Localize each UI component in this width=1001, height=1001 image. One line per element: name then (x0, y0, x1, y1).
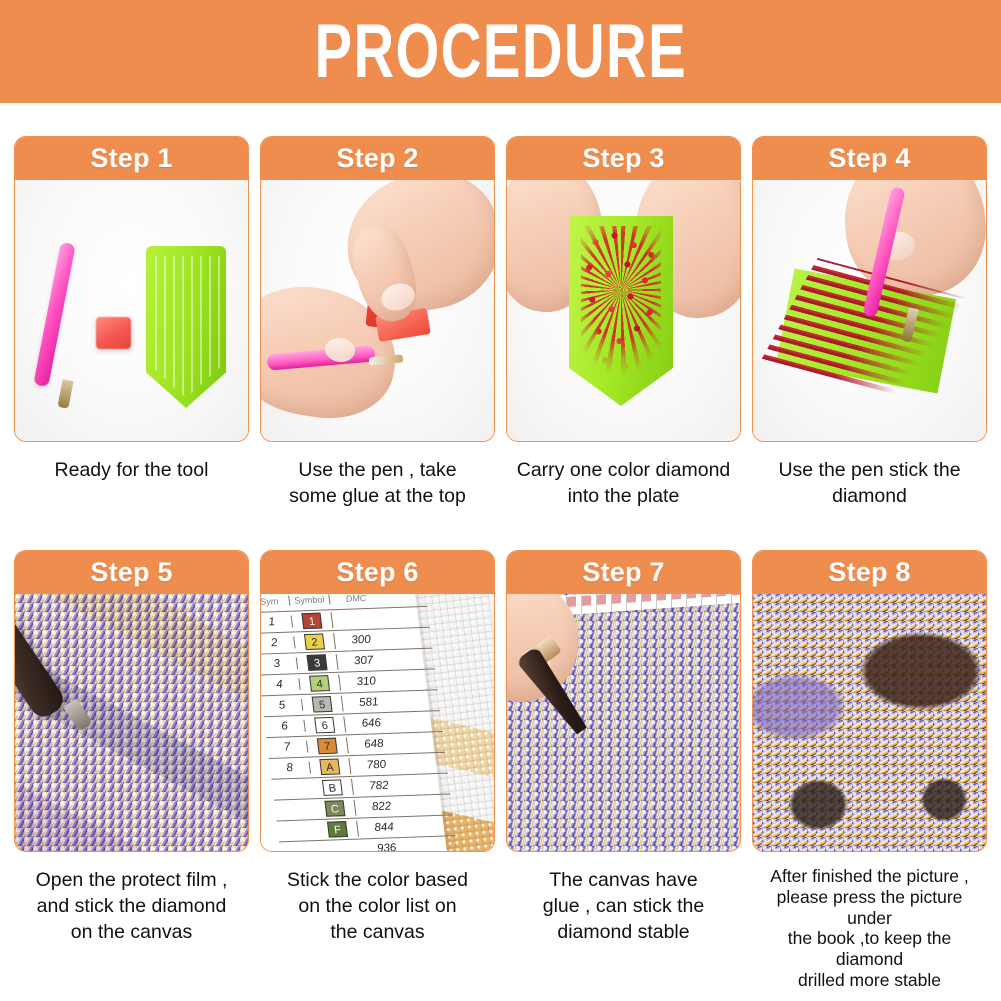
step-4-card: Step 4 (752, 136, 987, 442)
step-card-5: Step 5 Open the protect film , and stick… (14, 550, 249, 990)
caption-line: After finished the picture , (754, 866, 985, 887)
symbol-swatch: 3 (307, 655, 328, 672)
red-diamonds-icon (581, 226, 661, 386)
step-3-caption: Carry one color diamond into the plate (506, 458, 741, 509)
step-8-caption: After finished the picture , please pres… (752, 866, 987, 990)
symbol-swatch: B (322, 780, 343, 797)
row-dmc: 822 (355, 800, 409, 814)
step-1-image (15, 180, 248, 441)
row-dmc: 310 (339, 675, 393, 689)
step-7-caption: The canvas have glue , can stick the dia… (506, 868, 741, 945)
step-7-header: Step 7 (507, 551, 740, 594)
step-7-image (507, 594, 740, 851)
caption-line: the canvas (262, 920, 493, 946)
step-4-image (753, 180, 986, 441)
row-symbol: 3 (296, 654, 338, 671)
step-1-card: Step 1 (14, 136, 249, 442)
row-index: 7 (267, 741, 309, 754)
row-symbol: B (312, 779, 354, 796)
step-card-6: Step 6 Sym Symbol DMC (260, 550, 495, 990)
step-6-header: Step 6 (261, 551, 494, 594)
symbol-swatch: 6 (314, 717, 335, 734)
caption-line: the book ,to keep the diamond (754, 928, 985, 969)
mosaic-color-bands (15, 594, 248, 851)
step-8-card: Step 8 (752, 550, 987, 852)
caption-line: and stick the diamond (16, 894, 247, 920)
caption-line: drilled more stable (754, 970, 985, 991)
picture-detail-overlay (753, 594, 986, 851)
step-4-caption: Use the pen stick the diamond (752, 458, 987, 509)
steps-grid: Step 1 Ready for the tool (0, 103, 1001, 990)
row-index: 8 (269, 762, 311, 775)
caption-line: some glue at the top (262, 484, 493, 510)
row-dmc: 646 (345, 717, 399, 731)
step-5-caption: Open the protect film , and stick the di… (14, 868, 249, 945)
row-dmc: 307 (337, 655, 391, 669)
row-index: 4 (261, 679, 301, 692)
row-symbol: 7 (307, 738, 349, 755)
caption-line: diamond (754, 484, 985, 510)
step-3-image (507, 180, 740, 441)
step-6-card: Step 6 Sym Symbol DMC (260, 550, 495, 852)
caption-line: on the canvas (16, 920, 247, 946)
caption-line: Open the protect film , (16, 868, 247, 894)
page-title: PROCEDURE (314, 8, 687, 95)
row-symbol: F (317, 821, 359, 838)
row-index: 2 (261, 637, 296, 650)
step-3-header: Step 3 (507, 137, 740, 180)
step-card-3: Step 3 Carry one color diamond into the … (506, 136, 741, 509)
step-2-header: Step 2 (261, 137, 494, 180)
step-2-caption: Use the pen , take some glue at the top (260, 458, 495, 509)
step-card-4: Step 4 Use the pen stick the diamond (752, 136, 987, 509)
step-2-image (261, 180, 494, 441)
symbol-swatch: F (327, 822, 348, 839)
caption-line: Stick the color based (262, 868, 493, 894)
row-symbol: 5 (302, 696, 344, 713)
glue-square-icon (96, 317, 131, 349)
row-index (273, 789, 313, 790)
row-dmc: 782 (352, 780, 406, 794)
step-4-header: Step 4 (753, 137, 986, 180)
col-header-symbol: Symbol (289, 595, 330, 606)
step-3-card: Step 3 (506, 136, 741, 442)
row-index: 6 (264, 720, 306, 733)
step-card-8: Step 8 After finished the picture , plea… (752, 550, 987, 990)
step-card-2: Step 2 U (260, 136, 495, 509)
step-card-1: Step 1 Ready for the tool (14, 136, 249, 509)
row-index: 1 (261, 616, 293, 629)
row-dmc (332, 619, 384, 621)
caption-line: please press the picture under (754, 887, 985, 928)
step-8-image (753, 594, 986, 851)
row-symbol (320, 850, 360, 851)
step-5-image (15, 594, 248, 851)
row-index (275, 810, 315, 811)
caption-line: The canvas have (508, 868, 739, 894)
step-8-header: Step 8 (753, 551, 986, 594)
symbol-swatch: C (324, 801, 345, 818)
symbol-swatch: 1 (301, 613, 322, 630)
steps-row-2: Step 5 Open the protect film , and stick… (14, 550, 987, 990)
page-header-banner: PROCEDURE (0, 0, 1001, 103)
symbol-swatch: A (319, 759, 340, 776)
caption-line: diamond stable (508, 920, 739, 946)
caption-line: Carry one color diamond (508, 458, 739, 484)
symbol-swatch: 5 (312, 696, 333, 713)
row-symbol: C (314, 800, 356, 817)
step-5-header: Step 5 (15, 551, 248, 594)
row-index: 3 (261, 658, 298, 671)
row-dmc: 648 (347, 738, 401, 752)
step-card-7: Step 7 The canvas have glue , can stick … (506, 550, 741, 990)
symbol-swatch: 4 (309, 676, 330, 693)
step-1-header: Step 1 (15, 137, 248, 180)
row-dmc: 844 (357, 821, 411, 835)
row-dmc: 300 (334, 634, 388, 648)
caption-line: Use the pen stick the (754, 458, 985, 484)
row-symbol: 6 (304, 717, 346, 734)
caption-line: Use the pen , take (262, 458, 493, 484)
row-index (278, 830, 318, 831)
symbol-swatch: 7 (317, 738, 338, 755)
row-symbol: 4 (299, 675, 341, 692)
caption-line: into the plate (508, 484, 739, 510)
caption-line: on the color list on (262, 894, 493, 920)
step-7-card: Step 7 (506, 550, 741, 852)
row-dmc: 936 (360, 842, 414, 851)
symbol-swatch: 2 (304, 634, 325, 651)
step-6-caption: Stick the color based on the color list … (260, 868, 495, 945)
col-header-sym: Sym (261, 596, 290, 607)
steps-row-1: Step 1 Ready for the tool (14, 136, 987, 509)
row-index: 5 (262, 699, 304, 712)
row-symbol: 2 (294, 634, 336, 651)
step-1-caption: Ready for the tool (14, 458, 249, 484)
caption-line: glue , can stick the (508, 894, 739, 920)
row-dmc: 780 (350, 759, 404, 773)
step-5-card: Step 5 (14, 550, 249, 852)
step-6-image: Sym Symbol DMC 1 1 2 2 (261, 594, 494, 851)
step-2-card: Step 2 (260, 136, 495, 442)
row-dmc: 581 (342, 696, 396, 710)
row-symbol: 1 (291, 613, 333, 630)
col-header-dmc: DMC (329, 594, 382, 604)
row-symbol: A (309, 759, 351, 776)
